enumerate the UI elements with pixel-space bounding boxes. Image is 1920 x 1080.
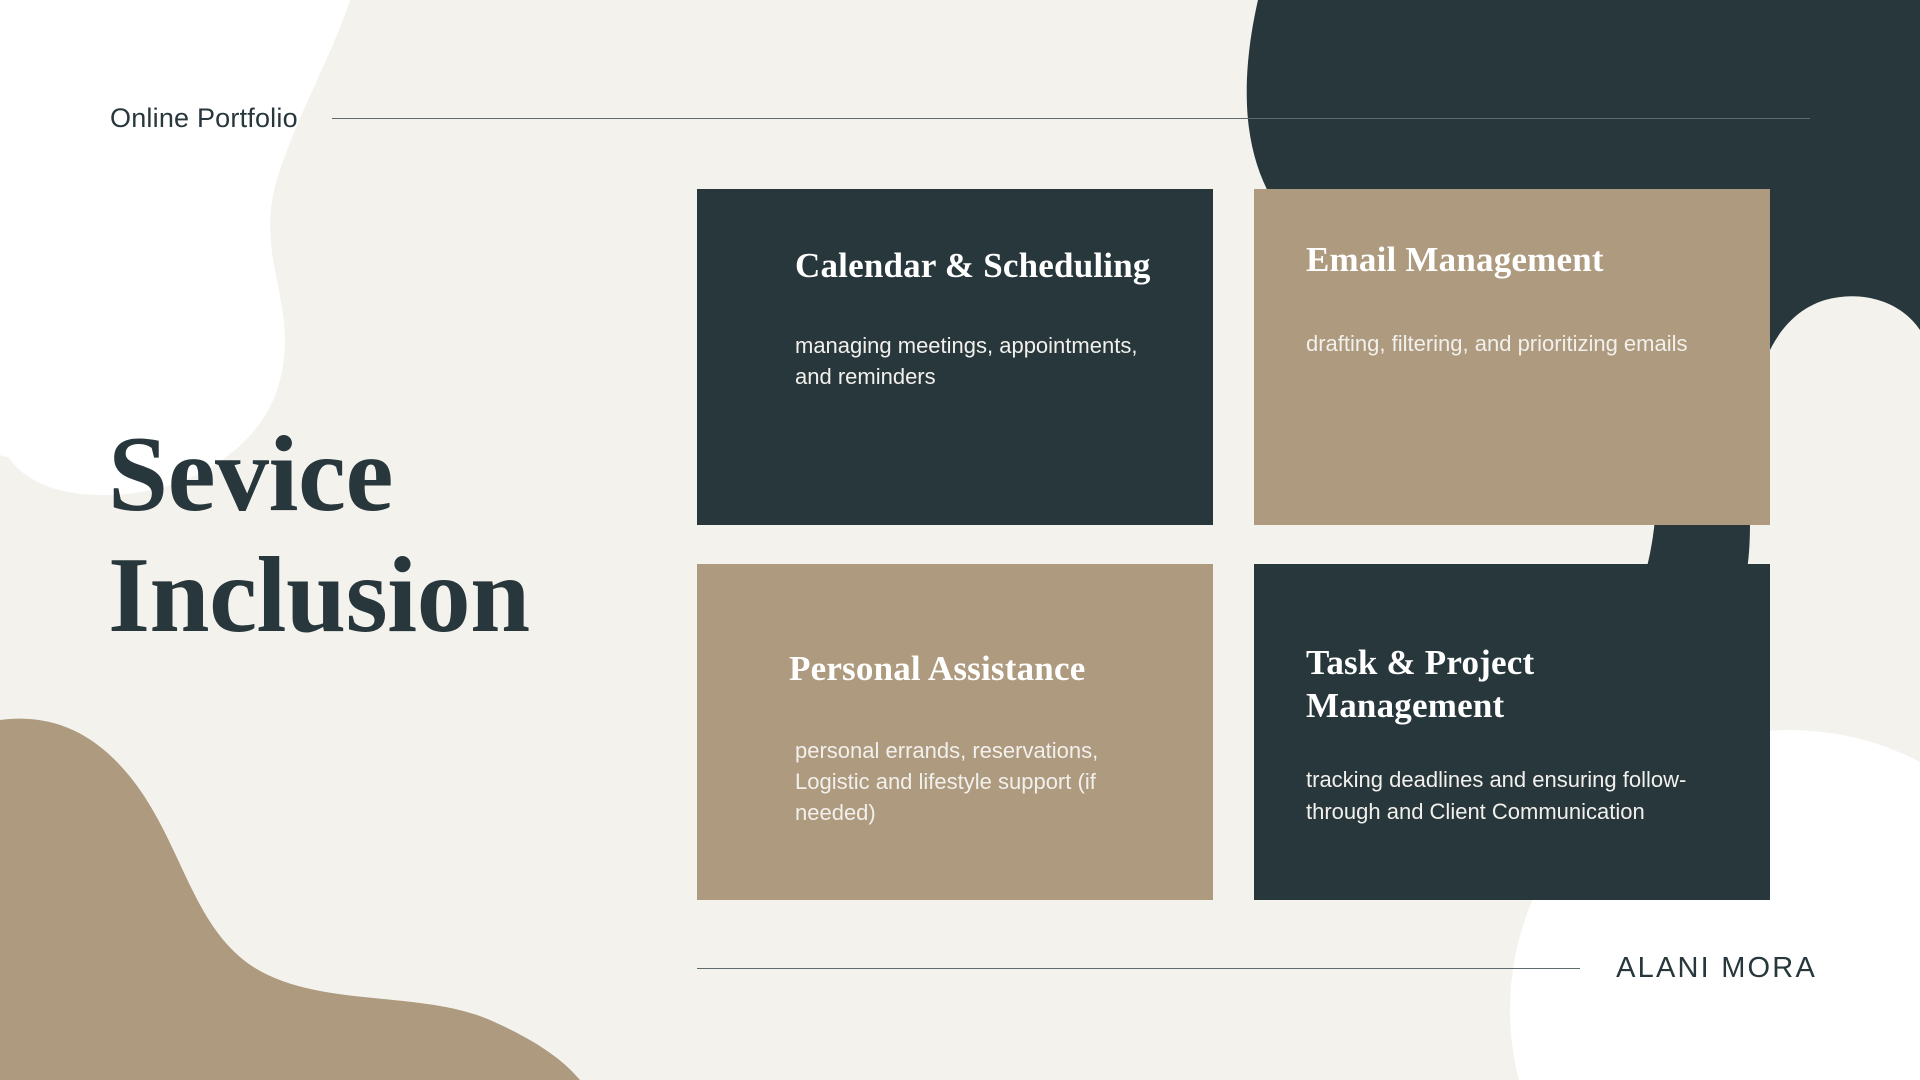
service-card-body: managing meetings, appointments, and rem… <box>795 330 1161 392</box>
page-title-line-2: Inclusion <box>108 536 728 657</box>
header-divider <box>332 118 1810 119</box>
footer-author-name: ALANI MORA <box>1616 952 1817 985</box>
service-card-title: Task & Project Management <box>1306 642 1718 727</box>
service-card-title: Email Management <box>1306 239 1718 282</box>
service-card-body: tracking deadlines and ensuring follow-t… <box>1306 764 1706 826</box>
service-card-grid: Calendar & Scheduling managing meetings,… <box>697 189 1770 900</box>
page-title: Sevice Inclusion <box>108 415 728 657</box>
service-card-task-project-management[interactable]: Task & Project Management tracking deadl… <box>1254 564 1770 900</box>
footer-divider <box>697 968 1580 969</box>
service-card-email-management[interactable]: Email Management drafting, filtering, an… <box>1254 189 1770 525</box>
slide-footer: ALANI MORA <box>697 948 1817 988</box>
service-card-calendar-scheduling[interactable]: Calendar & Scheduling managing meetings,… <box>697 189 1213 525</box>
header-label: Online Portfolio <box>110 103 298 134</box>
service-card-body: drafting, filtering, and prioritizing em… <box>1306 328 1706 359</box>
slide-header: Online Portfolio <box>110 98 1810 138</box>
service-card-body: personal errands, reservations, Logistic… <box>795 735 1161 829</box>
service-card-title: Personal Assistance <box>789 648 1161 691</box>
page-title-line-1: Sevice <box>108 415 728 536</box>
slide-stage: Online Portfolio Sevice Inclusion Calend… <box>0 0 1920 1080</box>
service-card-title: Calendar & Scheduling <box>795 245 1161 288</box>
service-card-personal-assistance[interactable]: Personal Assistance personal errands, re… <box>697 564 1213 900</box>
